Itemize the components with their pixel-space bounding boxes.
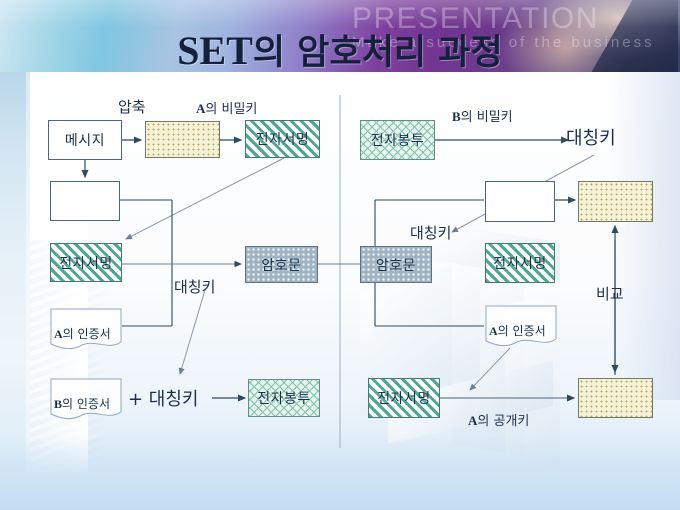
- node-left-hash-digest: [50, 181, 120, 221]
- doc-left-cert-a-suffix: 의 인증서: [63, 327, 111, 341]
- node-message-label: 메시지: [65, 130, 105, 150]
- label-compress: 압축: [118, 96, 146, 117]
- label-secret-key-a: A의 비밀키: [196, 98, 257, 117]
- node-left-signature-mid-label: 전자서명: [59, 253, 113, 273]
- doc-right-cert-a-suffix: 의 인증서: [498, 324, 546, 338]
- doc-left-cert-a-label: A의 인증서: [54, 325, 111, 342]
- diagram: 메시지 전자서명 전자서명 암호문 전자봉투 A의 인증서: [0, 0, 680, 510]
- label-right-symmetric-key-out: 대칭키: [566, 124, 616, 150]
- node-left-envelope-label: 전자봉투: [257, 388, 311, 408]
- node-left-ciphertext: 암호문: [245, 246, 318, 283]
- page-title-latin: SET: [177, 28, 253, 73]
- node-right-signature-bottom-label: 전자서명: [377, 388, 431, 408]
- page-title: SET의 암호처리 과정: [0, 24, 680, 75]
- label-compare: 비교: [596, 283, 624, 304]
- node-right-envelope-label: 전자봉투: [371, 130, 425, 150]
- doc-right-cert-a-label: A의 인증서: [489, 322, 546, 339]
- node-right-digest-bottom: [578, 378, 653, 418]
- label-secret-key-b: B의 비밀키: [452, 106, 513, 125]
- label-secret-key-a-prefix: A: [196, 101, 205, 116]
- node-right-signature-mid: 전자서명: [485, 243, 555, 283]
- doc-right-cert-a: A의 인증서: [485, 305, 557, 349]
- label-public-key-a-prefix: A: [468, 413, 477, 428]
- node-right-ciphertext-label: 암호문: [376, 255, 416, 275]
- page-title-korean: 의 암호처리 과정: [253, 33, 503, 73]
- label-secret-key-b-prefix: B: [452, 109, 461, 124]
- node-left-signature-top-label: 전자서명: [256, 129, 310, 149]
- doc-left-cert-a-prefix: A: [54, 327, 63, 341]
- node-right-decrypt: [485, 181, 555, 222]
- node-right-digest-top: [578, 181, 653, 222]
- label-right-symmetric-key-mid: 대칭키: [410, 222, 451, 243]
- doc-left-cert-b-label: B의 인증서: [54, 395, 110, 412]
- node-message: 메시지: [48, 120, 122, 160]
- label-left-symmetric-key: 대칭키: [174, 276, 215, 297]
- doc-left-cert-b-prefix: B: [54, 397, 62, 411]
- doc-left-cert-b-suffix: 의 인증서: [62, 397, 110, 411]
- doc-left-cert-b: B의 인증서: [50, 378, 122, 422]
- slide-canvas: PRESENTATION Make a success of the busin…: [0, 0, 680, 510]
- label-plus-symmetric-key: + 대칭키: [128, 385, 198, 411]
- node-left-signature-mid: 전자서명: [50, 243, 122, 282]
- node-right-signature-bottom: 전자서명: [368, 378, 440, 418]
- label-public-key-a-suffix: 의 공개키: [477, 414, 529, 429]
- label-secret-key-a-suffix: 의 비밀키: [205, 102, 257, 117]
- node-left-signature-top: 전자서명: [245, 120, 320, 158]
- node-right-ciphertext: 암호문: [360, 246, 432, 283]
- label-public-key-a: A의 공개키: [468, 410, 529, 429]
- node-left-envelope: 전자봉투: [248, 379, 320, 417]
- label-secret-key-b-suffix: 의 비밀키: [461, 110, 513, 125]
- node-right-signature-mid-label: 전자서명: [493, 253, 547, 273]
- doc-left-cert-a: A의 인증서: [50, 308, 122, 352]
- node-right-envelope: 전자봉투: [360, 120, 435, 160]
- node-left-compressed-digest: [145, 121, 220, 158]
- node-left-ciphertext-label: 암호문: [261, 255, 301, 275]
- doc-right-cert-a-prefix: A: [489, 324, 498, 338]
